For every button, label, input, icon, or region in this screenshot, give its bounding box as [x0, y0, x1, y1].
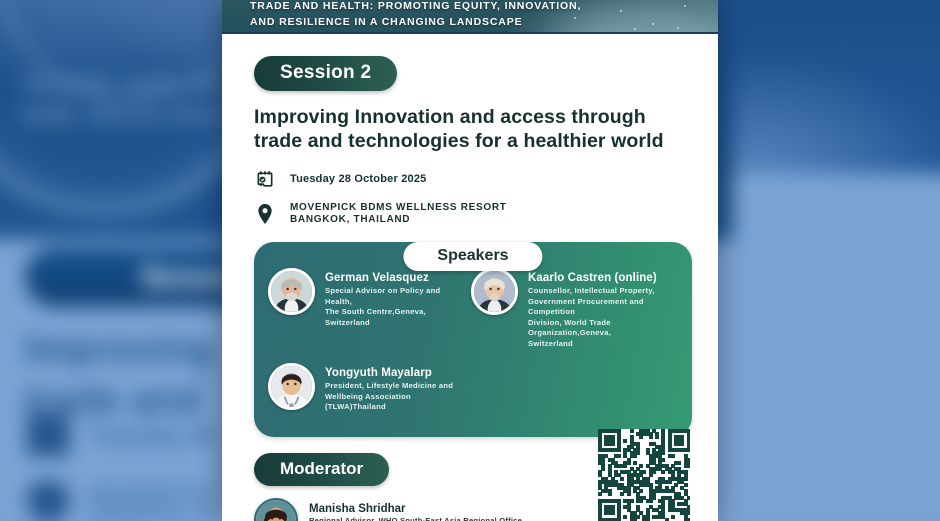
backdrop-date-text: Tuesday 28 — [91, 424, 216, 448]
poster-header-band: TRADE AND HEALTH: PROMOTING EQUITY, INNO… — [222, 0, 718, 34]
session-date-text: Tuesday 28 October 2025 — [290, 169, 426, 185]
session-date-row: Tuesday 28 October 2025 — [254, 169, 692, 190]
moderator-name: Manisha Shridhar — [309, 502, 524, 516]
session-title: Improving Innovation and access through … — [254, 105, 692, 153]
moderator-badge: Moderator — [254, 453, 389, 486]
venue-city: BANGKOK, THAILAND — [290, 214, 410, 225]
poster-card: TRADE AND HEALTH: PROMOTING EQUITY, INNO… — [222, 0, 718, 521]
speaker-info: Kaarlo Castren (online) Counsellor, Inte… — [528, 268, 674, 349]
qr-code[interactable] — [598, 429, 690, 521]
session-badge: Session 2 — [254, 56, 397, 91]
poster-header-title: TRADE AND HEALTH: PROMOTING EQUITY, INNO… — [250, 0, 581, 30]
backdrop-venue-line2: BANGKOK, TH — [91, 504, 215, 521]
backdrop-banner-line2: AND RESILIENCE — [20, 101, 256, 130]
speaker-card: Yongyuth Mayalarp President, Lifestyle M… — [268, 363, 471, 413]
speaker-name: German Velasquez — [325, 271, 467, 285]
speaker-info: Yongyuth Mayalarp President, Lifestyle M… — [325, 363, 467, 413]
speaker-card: Kaarlo Castren (online) Counsellor, Inte… — [471, 268, 674, 349]
screenshot-root: 20 TRADE AND HEA AND RESILIENCE Session … — [0, 0, 940, 521]
speaker-role: Special Advisor on Policy and Health, Th… — [325, 286, 467, 328]
avatar — [254, 498, 298, 521]
venue-name: MOVENPICK BDMS WELLNESS RESORT — [290, 202, 507, 213]
speakers-grid: German Velasquez Special Advisor on Poli… — [268, 268, 674, 421]
session-location-row: MOVENPICK BDMS WELLNESS RESORT BANGKOK, … — [254, 202, 692, 226]
speakers-section: Speakers — [254, 242, 692, 437]
speakers-panel: German Velasquez Special Advisor on Poli… — [254, 242, 692, 437]
backdrop-calendar-icon — [27, 414, 69, 456]
speaker-info: German Velasquez Special Advisor on Poli… — [325, 268, 467, 349]
speaker-name: Kaarlo Castren (online) — [528, 271, 674, 285]
avatar — [471, 268, 518, 315]
backdrop-right-sheen — [733, 0, 940, 175]
avatar — [268, 268, 315, 315]
backdrop-banner-line1: TRADE AND HEA — [20, 71, 248, 100]
moderator-info: Manisha Shridhar Regional Advisor, WHO S… — [309, 498, 524, 521]
speaker-card: German Velasquez Special Advisor on Poli… — [268, 268, 471, 349]
backdrop-headline-line1: Improving — [25, 324, 214, 375]
backdrop-venue-line1: MOVENPICK B — [91, 485, 215, 503]
map-pin-icon — [254, 202, 276, 225]
session-venue-text: MOVENPICK BDMS WELLNESS RESORT BANGKOK, … — [290, 202, 507, 226]
speaker-name: Yongyuth Mayalarp — [325, 366, 467, 380]
speakers-badge: Speakers — [403, 242, 542, 271]
moderator-role: Regional Advisor, WHO South-East Asia Re… — [309, 516, 524, 521]
backdrop-map-pin-icon — [27, 480, 69, 521]
speaker-role: Counsellor, Intellectual Property, Gover… — [528, 286, 674, 349]
avatar — [268, 363, 315, 410]
speaker-role: President, Lifestyle Medicine and Wellbe… — [325, 381, 467, 413]
poster-body: Session 2 Improving Innovation and acces… — [222, 34, 718, 521]
calendar-check-icon — [254, 169, 276, 190]
